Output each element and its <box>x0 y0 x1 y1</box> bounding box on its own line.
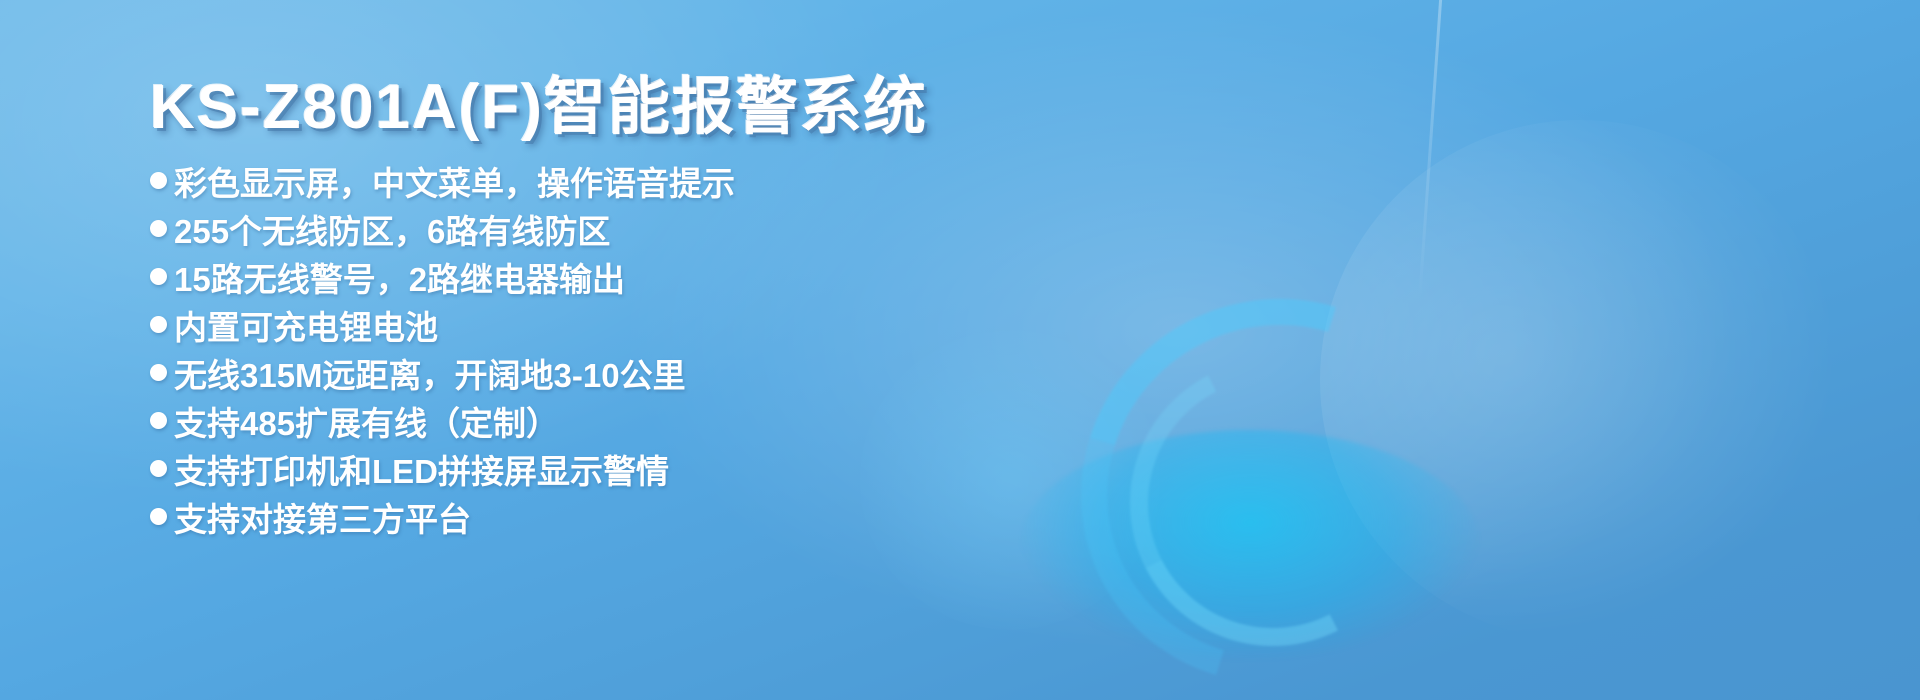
bullet-dot-icon <box>150 412 167 429</box>
product-banner: KS-Z801A(F)智能报警系统 彩色显示屏，中文菜单，操作语音提示 255个… <box>0 0 1920 700</box>
feature-text: 内置可充电锂电池 <box>174 301 438 349</box>
copy-column: KS-Z801A(F)智能报警系统 彩色显示屏，中文菜单，操作语音提示 255个… <box>0 0 980 700</box>
list-item: 255个无线防区，6路有线防区 <box>150 206 735 251</box>
bullet-dot-icon <box>150 220 167 237</box>
product-image-alarm-panel: 22:27 04-03-01 撤防中 电源 布防 故障 通讯 报警 1 <box>930 0 1920 700</box>
bullet-dot-icon <box>150 364 167 381</box>
bullet-dot-icon <box>150 460 167 477</box>
feature-text: 支持打印机和LED拼接屏显示警情 <box>174 445 669 493</box>
feature-text: 支持485扩展有线（定制） <box>174 397 559 445</box>
feature-text: 彩色显示屏，中文菜单，操作语音提示 <box>174 157 735 205</box>
bullet-dot-icon <box>150 268 167 285</box>
page-title: KS-Z801A(F)智能报警系统 <box>150 56 928 146</box>
bullet-dot-icon <box>150 172 167 189</box>
feature-text: 255个无线防区，6路有线防区 <box>174 205 610 253</box>
list-item: 15路无线警号，2路继电器输出 <box>150 254 735 299</box>
list-item: 彩色显示屏，中文菜单，操作语音提示 <box>150 158 735 203</box>
list-item: 支持485扩展有线（定制） <box>150 398 735 443</box>
bullet-dot-icon <box>150 508 167 525</box>
drop-shadow <box>1915 498 1920 538</box>
list-item: 支持打印机和LED拼接屏显示警情 <box>150 446 735 491</box>
bullet-dot-icon <box>150 316 167 333</box>
list-item: 无线315M远距离，开阔地3-10公里 <box>150 350 735 395</box>
feature-list: 彩色显示屏，中文菜单，操作语音提示 255个无线防区，6路有线防区 15路无线警… <box>150 158 735 542</box>
feature-text: 15路无线警号，2路继电器输出 <box>174 253 625 301</box>
feature-text: 支持对接第三方平台 <box>174 493 471 541</box>
list-item: 内置可充电锂电池 <box>150 302 735 347</box>
feature-text: 无线315M远距离，开阔地3-10公里 <box>174 349 686 397</box>
list-item: 支持对接第三方平台 <box>150 494 735 539</box>
